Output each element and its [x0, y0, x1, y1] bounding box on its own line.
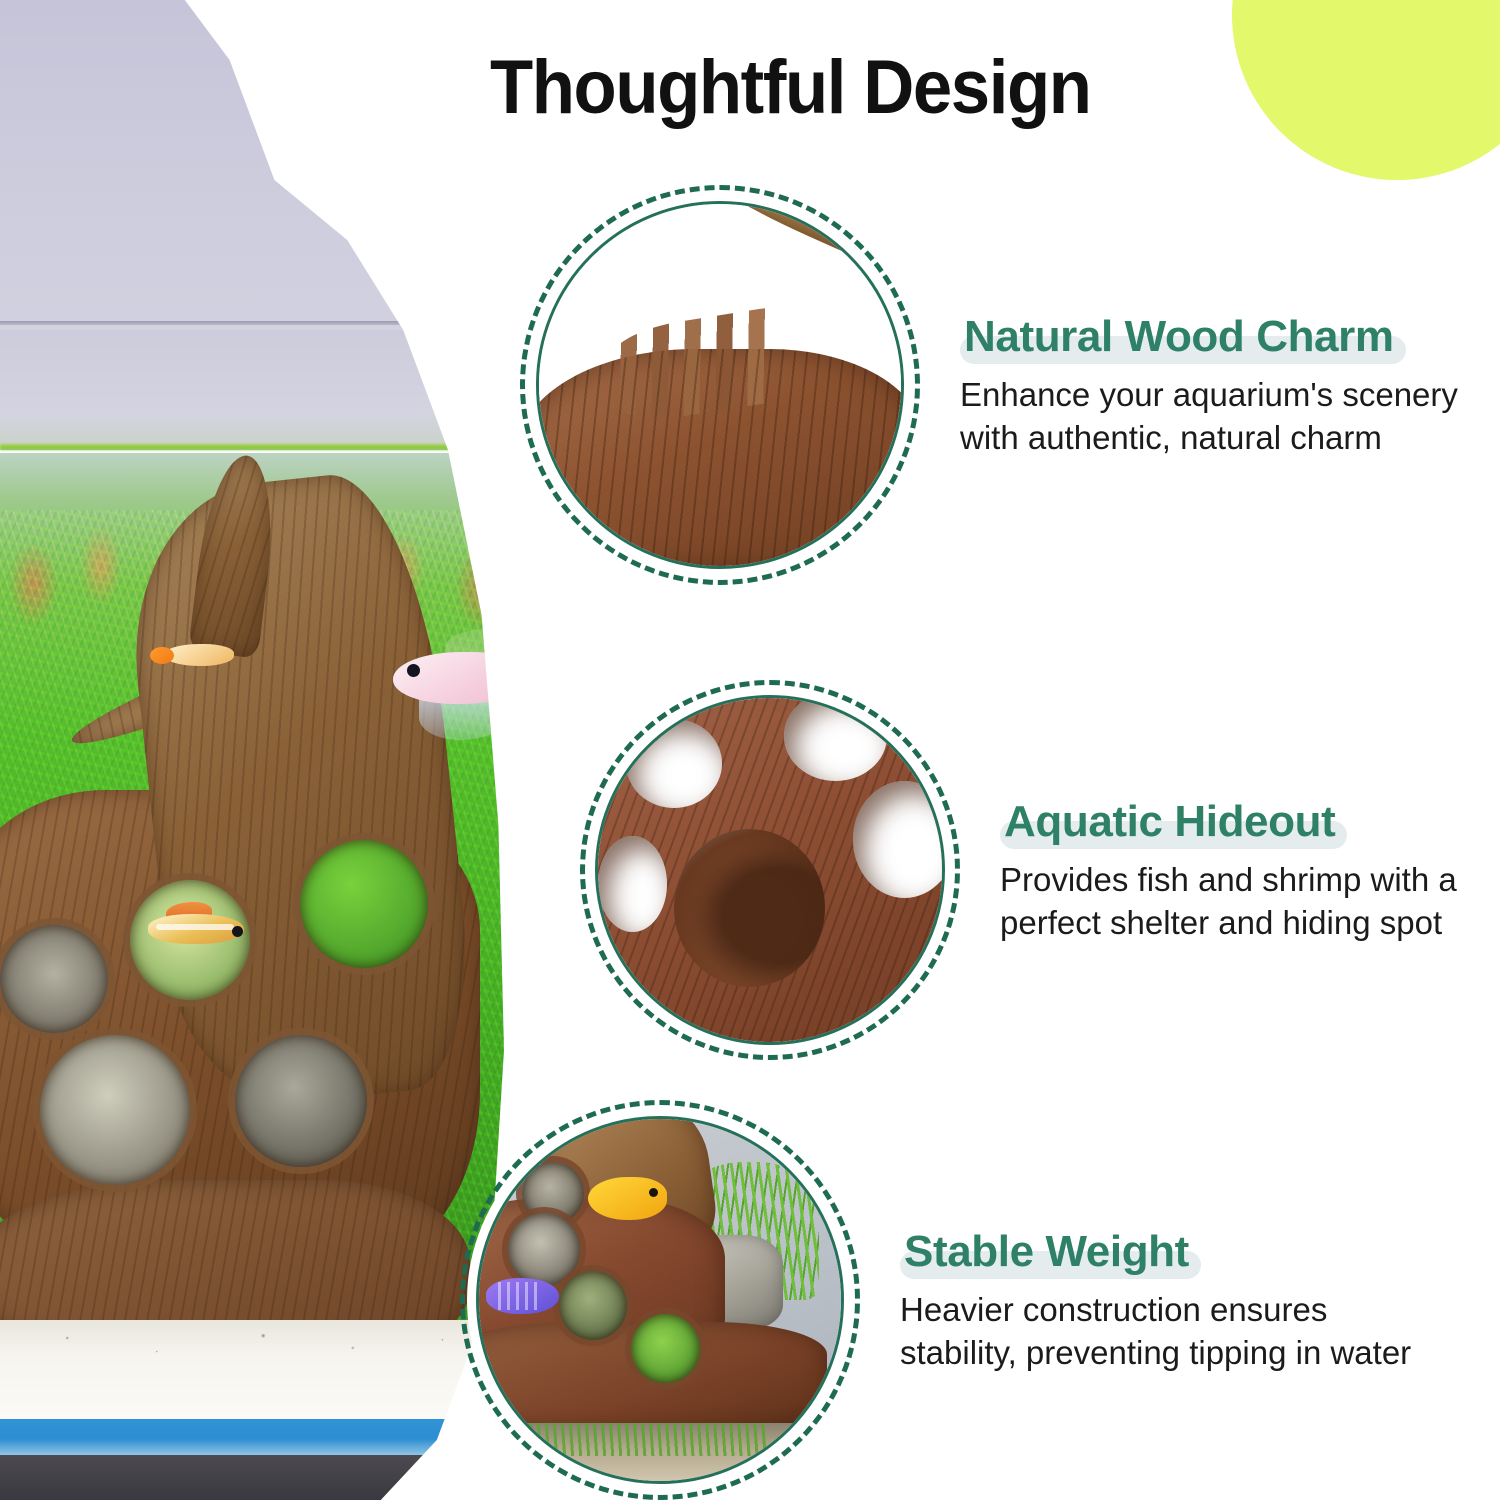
aquarium-scene-photo	[476, 1116, 844, 1484]
feature-description-3: Heavier construction ensures stability, …	[900, 1289, 1420, 1375]
tank-background	[0, 0, 560, 330]
feature-image-1	[520, 185, 920, 585]
driftwood-hole	[235, 1035, 367, 1167]
orange-fish	[150, 638, 242, 672]
yellow-cichlid	[588, 1177, 668, 1220]
betta-fish	[385, 628, 560, 753]
feature-heading-3: Stable Weight	[900, 1225, 1201, 1280]
driftwood-hole	[40, 1035, 190, 1185]
tank-rim	[0, 321, 560, 325]
feature-text-3: Stable Weight Heavier construction ensur…	[900, 1225, 1420, 1374]
waterline-plant-edge	[0, 444, 560, 450]
yellow-fish-in-hole	[140, 900, 260, 958]
feature-description-2: Provides fish and shrimp with a perfect …	[1000, 859, 1500, 945]
feature-heading-2: Aquatic Hideout	[1000, 795, 1347, 850]
feature-heading-1: Natural Wood Charm	[960, 310, 1406, 365]
water-surface-band	[0, 330, 560, 450]
feature-image-3	[460, 1100, 860, 1500]
infographic-stage: Thoughtful Design Natural Wood Charm Enh…	[0, 0, 1500, 1500]
feature-image-2	[580, 680, 960, 1060]
feature-stable-weight: Stable Weight Heavier construction ensur…	[460, 1100, 1420, 1500]
feature-aquatic-hideout: Aquatic Hideout Provides fish and shrimp…	[580, 680, 1500, 1060]
driftwood-hole	[300, 840, 428, 968]
feature-description-1: Enhance your aquarium's scenery with aut…	[960, 374, 1480, 460]
driftwood-hole	[0, 925, 108, 1033]
page-title: Thoughtful Design	[490, 50, 1091, 126]
driftwood-texture-photo	[536, 201, 904, 569]
driftwood-tunnels-photo	[595, 695, 945, 1045]
feature-text-1: Natural Wood Charm Enhance your aquarium…	[960, 310, 1480, 459]
accent-blob-icon	[1232, 0, 1500, 180]
feature-natural-wood-charm: Natural Wood Charm Enhance your aquarium…	[520, 185, 1480, 585]
purple-cichlid	[486, 1278, 558, 1314]
feature-text-2: Aquatic Hideout Provides fish and shrimp…	[1000, 795, 1500, 944]
